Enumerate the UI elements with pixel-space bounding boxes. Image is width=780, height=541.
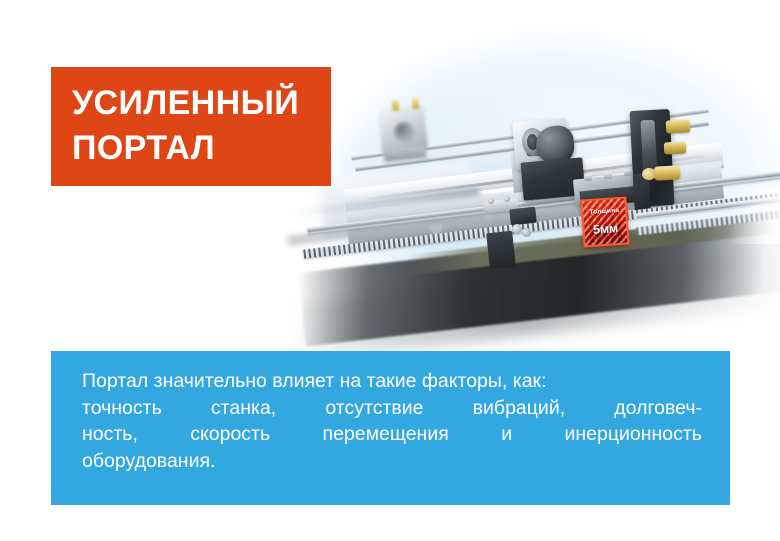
clamp-bolt-a bbox=[584, 174, 593, 182]
left-mount-bolt-2 bbox=[411, 98, 419, 110]
desc-l2-w2: станка, bbox=[211, 395, 276, 422]
carriage-foot bbox=[486, 231, 516, 270]
description-line-2: точность станка, отсутствие вибраций, до… bbox=[82, 395, 702, 422]
clamp-bolt-b bbox=[604, 172, 613, 180]
slide-root: Толщина 5мм УСИЛЕННЫЙ ПОРТАЛ Портал знач… bbox=[0, 0, 780, 541]
description-text: Портал значительно влияет на такие факто… bbox=[82, 368, 702, 474]
carriage-foot-screw-1 bbox=[512, 224, 523, 235]
title-line-1: УСИЛЕННЫЙ bbox=[72, 86, 299, 120]
description-line-3: ность, скорость перемещения и инерционно… bbox=[82, 421, 702, 448]
description-line-4: оборудования. bbox=[82, 448, 702, 475]
title-line-2: ПОРТАЛ bbox=[72, 131, 215, 165]
brass-fitting-2 bbox=[664, 141, 687, 154]
clamp-bolt-c bbox=[624, 169, 633, 177]
limit-sensor-block bbox=[509, 207, 537, 226]
desc-l3-w2: скорость bbox=[190, 421, 270, 448]
brass-fitting-1 bbox=[666, 119, 691, 133]
thickness-callout-badge: Толщина 5мм bbox=[580, 196, 629, 247]
desc-l2-w1: точность bbox=[82, 395, 162, 422]
desc-l2-w4: вибраций, bbox=[473, 395, 565, 422]
desc-l2-w3: отсутствие bbox=[325, 395, 423, 422]
desc-l3-w1: ность, bbox=[82, 421, 138, 448]
product-photo-cnc-gantry: Толщина 5мм bbox=[336, 48, 780, 340]
brass-fitting-3 bbox=[654, 165, 681, 180]
carriage-foot-screw-2 bbox=[522, 228, 532, 238]
desc-l3-w5: инерционность bbox=[564, 421, 701, 448]
right-fade-mask bbox=[728, 188, 780, 244]
description-line-1: Портал значительно влияет на такие факто… bbox=[82, 368, 702, 395]
title-block: УСИЛЕННЫЙ ПОРТАЛ bbox=[51, 67, 331, 186]
desc-l3-w3: перемещения bbox=[323, 421, 449, 448]
desc-l3-w4: и bbox=[501, 421, 512, 448]
desc-l2-w5: долговеч- bbox=[614, 395, 702, 422]
description-box: Портал значительно влияет на такие факто… bbox=[51, 351, 730, 505]
left-mount-bolt-1 bbox=[391, 100, 399, 112]
